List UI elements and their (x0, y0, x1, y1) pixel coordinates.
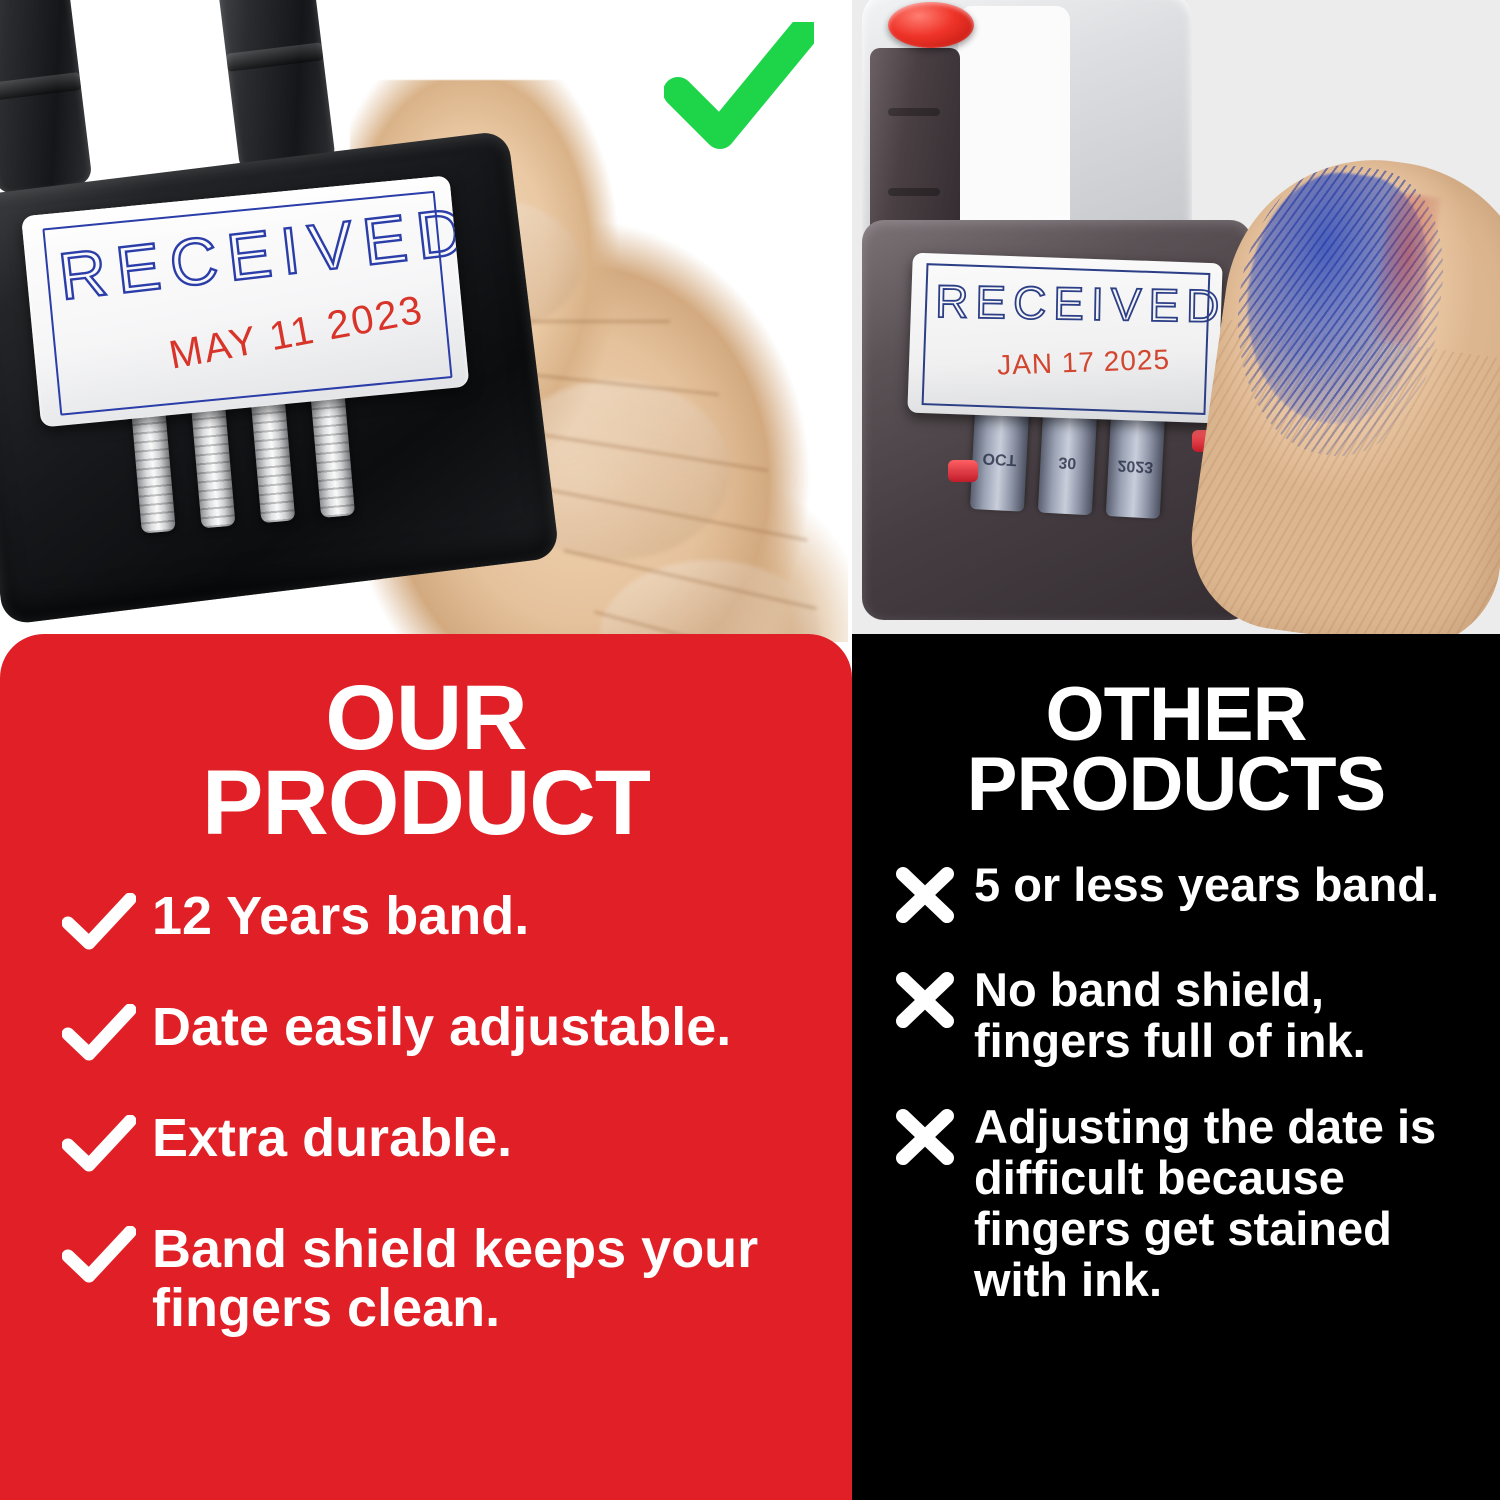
other-products-panel: OTHER PRODUCTS 5 or less years band. (852, 634, 1500, 1500)
stamp-grip (870, 48, 960, 248)
band-wheel: 30 (1038, 409, 1097, 516)
stamp-handle-left (0, 0, 93, 195)
green-check-badge (664, 22, 814, 152)
feature-comparison-panels: OUR PRODUCT 12 Years band. (0, 634, 1500, 1500)
cross-icon (892, 1108, 958, 1171)
our-product-photo: RECEIVED MAY 11 2023 (0, 0, 848, 642)
cross-icon (892, 971, 958, 1034)
list-item: Band shield keeps your fingers clean. (62, 1220, 826, 1337)
imprint-frame: RECEIVED JAN 17 2025 (922, 263, 1211, 415)
title-line-2: PRODUCTS (878, 750, 1474, 820)
check-icon (62, 1226, 136, 1289)
title-line-2: PRODUCT (26, 761, 826, 846)
list-item-label: No band shield, fingers full of ink. (974, 965, 1474, 1067)
list-item: 5 or less years band. (892, 860, 1474, 929)
imprint-date: JAN 17 2025 (997, 344, 1171, 382)
photo-comparison-row: RECEIVED MAY 11 2023 (0, 0, 1500, 642)
list-item-label: Adjusting the date is difficult because … (974, 1102, 1474, 1305)
imprint-date: MAY 11 2023 (166, 288, 428, 379)
cross-icon (892, 866, 958, 929)
list-item-label: Date easily adjustable. (152, 998, 731, 1056)
list-item-label: 5 or less years band. (974, 860, 1439, 911)
stamp-clear-housing (862, 0, 1192, 240)
stamp-red-button (888, 2, 974, 48)
check-icon (62, 1115, 136, 1178)
imprint-frame: RECEIVED MAY 11 2023 (42, 191, 452, 416)
other-products-title: OTHER PRODUCTS (878, 634, 1474, 820)
list-item: Extra durable. (62, 1109, 826, 1178)
other-products-drawback-list: 5 or less years band. No band shield, fi… (878, 860, 1474, 1306)
imprint-word: RECEIVED (935, 274, 1223, 333)
imprint-label: RECEIVED JAN 17 2025 (907, 253, 1222, 424)
other-product-photo: OCT 30 2023 RECEIVED JAN 17 2025 (852, 0, 1500, 642)
title-line-1: OUR (26, 676, 826, 761)
stamp-handle-right (210, 0, 336, 175)
list-item: Date easily adjustable. (62, 998, 826, 1067)
check-icon (664, 22, 814, 152)
list-item-label: 12 Years band. (152, 887, 529, 945)
list-item: Adjusting the date is difficult because … (892, 1102, 1474, 1305)
band-wheel: OCT (970, 405, 1029, 512)
list-item-label: Band shield keeps your fingers clean. (152, 1220, 826, 1337)
our-stamp-device: RECEIVED MAY 11 2023 (0, 5, 613, 642)
our-product-feature-list: 12 Years band. Date easily adjustable. (26, 887, 826, 1337)
our-product-title: OUR PRODUCT (26, 634, 826, 845)
list-item-label: Extra durable. (152, 1109, 512, 1167)
list-item: 12 Years band. (62, 887, 826, 956)
list-item: No band shield, fingers full of ink. (892, 965, 1474, 1067)
title-line-1: OTHER (878, 680, 1474, 750)
band-shield-with-imprint: RECEIVED MAY 11 2023 (21, 175, 469, 427)
check-icon (62, 1004, 136, 1067)
our-product-panel: OUR PRODUCT 12 Years band. (0, 634, 852, 1500)
check-icon (62, 893, 136, 956)
comparison-infographic: RECEIVED MAY 11 2023 (0, 0, 1500, 1500)
band-wheel: 2023 (1106, 412, 1165, 519)
